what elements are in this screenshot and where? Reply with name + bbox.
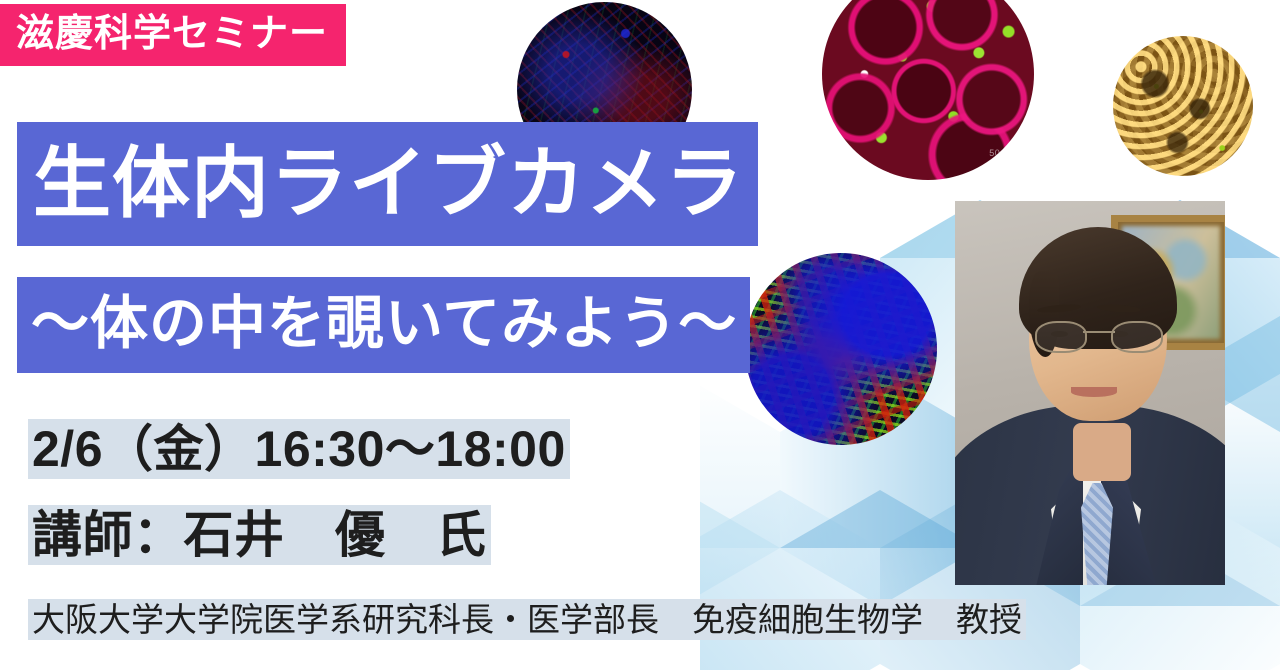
lecturer-name-text: 講師：石井 優 氏 (28, 505, 491, 565)
event-datetime: 2/6（金）16:30〜18:00 (28, 422, 570, 476)
seminar-series-tag: 滋慶科学セミナー (0, 4, 346, 66)
page-subtitle: 〜体の中を覗いてみよう〜 (17, 277, 750, 373)
lecturer-name: 講師：石井 優 氏 (28, 508, 491, 562)
microscopy-bone-marrow-rgb-icon (745, 253, 937, 445)
microscopy-kidney-tubules-gold-icon (1113, 36, 1253, 176)
seminar-poster: 50μm 滋慶科学セミナー 生体内ライブカメラ 〜体の中を覗いてみよう〜 2/6… (0, 0, 1280, 670)
lecturer-portrait-photo (955, 201, 1225, 585)
mouth-shape (1071, 387, 1117, 397)
neck-shape (1073, 423, 1131, 481)
scale-bar-label: 50μm (989, 148, 1014, 158)
page-title: 生体内ライブカメラ (17, 122, 758, 246)
eyeglasses-icon (1035, 321, 1163, 351)
eyeglass-lens-left (1035, 321, 1087, 353)
lecturer-affiliation-text: 大阪大学大学院医学系研究科長・医学部長 免疫細胞生物学 教授 (28, 599, 1026, 640)
event-datetime-text: 2/6（金）16:30〜18:00 (28, 419, 570, 479)
lecturer-affiliation: 大阪大学大学院医学系研究科長・医学部長 免疫細胞生物学 教授 (28, 602, 1026, 638)
microscopy-adipose-magenta-green-icon: 50μm (822, 0, 1034, 180)
eyeglass-lens-right (1111, 321, 1163, 353)
